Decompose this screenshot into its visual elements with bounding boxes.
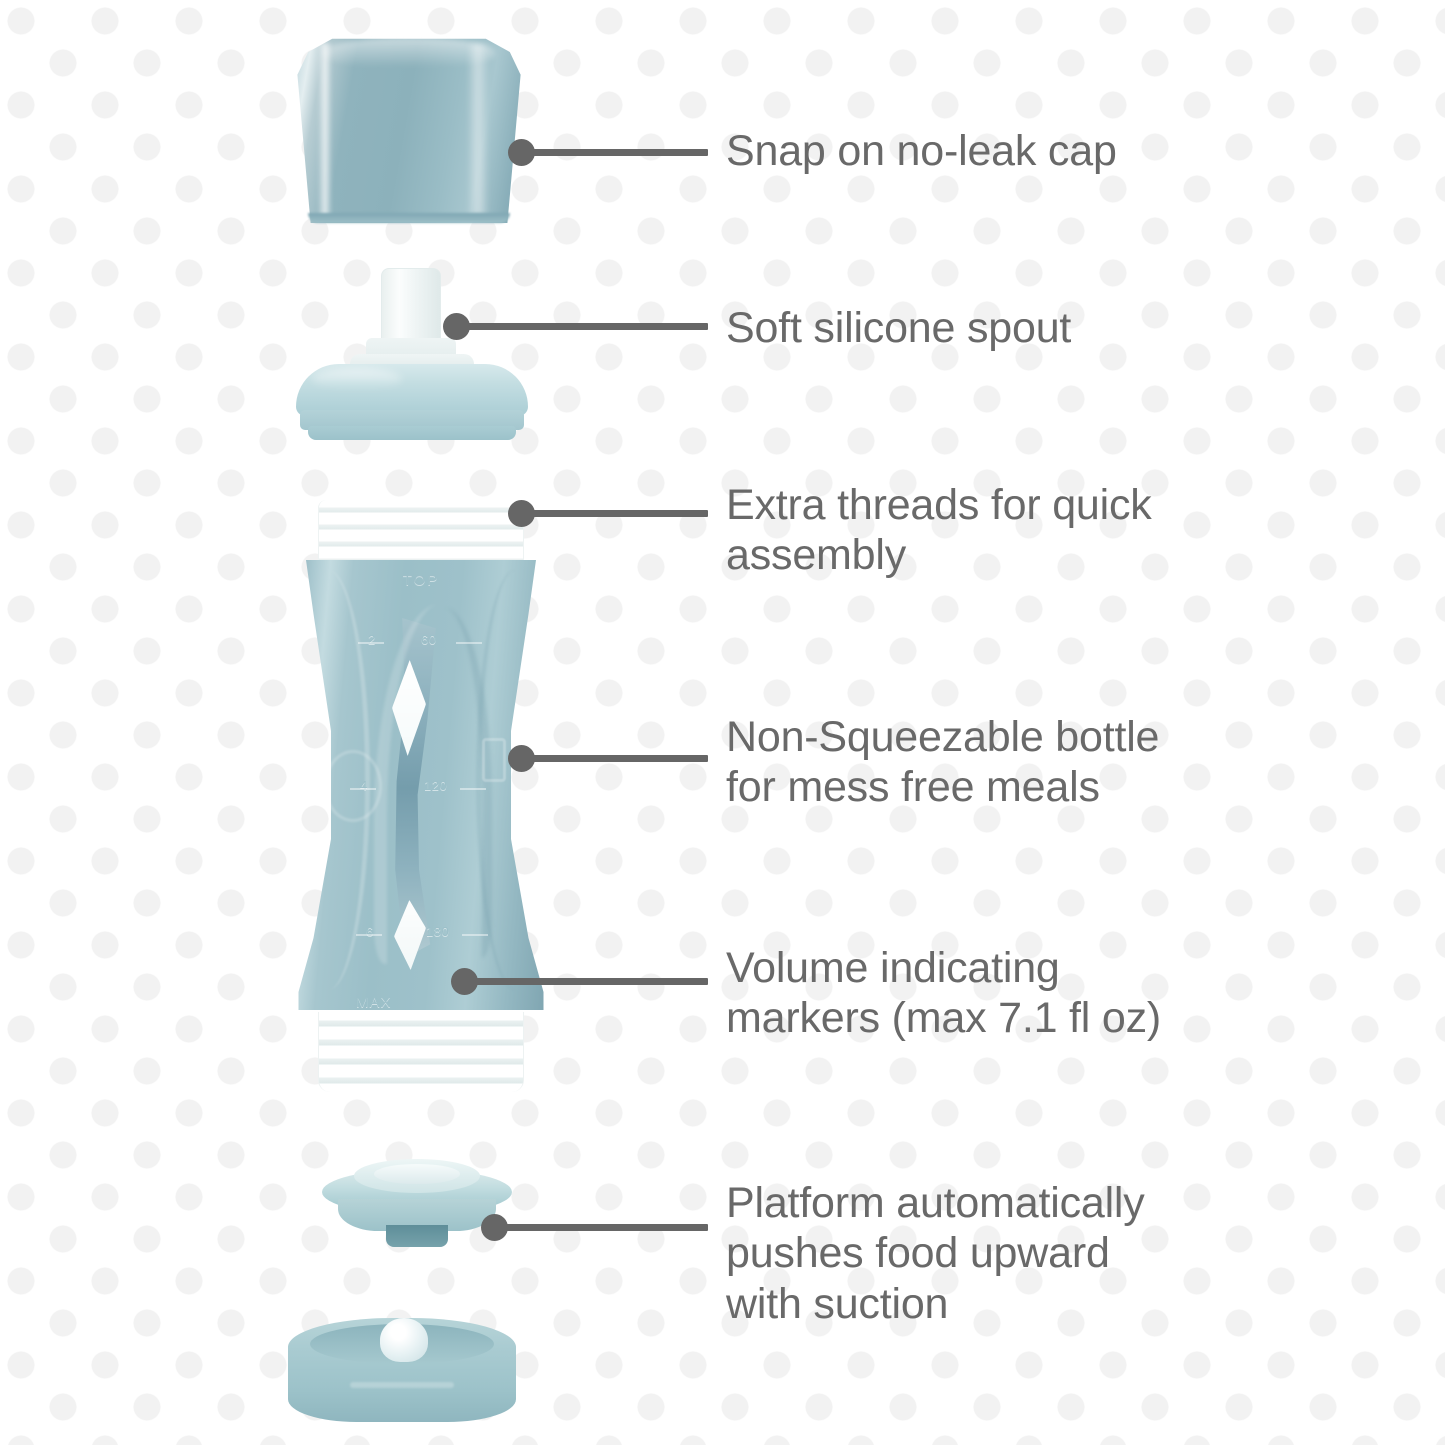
- spout-collar-highlight: [312, 368, 402, 390]
- leader-bar-threads: [526, 510, 708, 517]
- bottle-bottom-threads: [318, 1012, 524, 1092]
- volume-mark-oz-3: 6: [366, 924, 374, 939]
- leader-bar-spout: [461, 323, 708, 330]
- leader-dot-spout: [443, 313, 470, 340]
- leader-dot-threads: [508, 500, 535, 527]
- bottle-top-threads: [318, 500, 524, 570]
- leader-bar-cap: [526, 149, 708, 156]
- volume-tick-2l: [350, 788, 376, 790]
- volume-tick-3r: [462, 934, 488, 936]
- volume-mark-oz-1: 2: [368, 632, 376, 647]
- spout-nozzle: [381, 268, 441, 346]
- bottle-emboss-tickbox: [482, 738, 506, 782]
- infographic-stage: TOP 2 60 4 120 6 180 MAX 7.1 FL OZ 210 m…: [0, 0, 1445, 1445]
- volume-mark-ml-3: 180: [426, 924, 449, 939]
- leader-dot-cap: [508, 139, 535, 166]
- volume-mark-max: MAX: [356, 994, 392, 1011]
- spout-collar-band-lower: [308, 426, 516, 440]
- base-valve-bulb: [380, 1318, 428, 1362]
- volume-mark-ml-2: 120: [424, 778, 447, 793]
- volume-tick-1l: [358, 642, 384, 644]
- callout-text-platform: Platform automatically pushes food upwar…: [726, 1178, 1145, 1329]
- callout-text-bottle: Non-Squeezable bottle for mess free meal…: [726, 712, 1159, 813]
- callout-text-cap: Snap on no-leak cap: [726, 126, 1117, 176]
- volume-mark-ml-1: 60: [421, 632, 436, 647]
- leader-dot-bottle: [508, 745, 535, 772]
- callout-text-volume: Volume indicating markers (max 7.1 fl oz…: [726, 943, 1161, 1044]
- leader-dot-platform: [481, 1214, 508, 1241]
- platform-dome-inner: [374, 1164, 460, 1184]
- leader-bar-volume: [469, 978, 708, 985]
- callout-text-threads: Extra threads for quick assembly: [726, 480, 1152, 581]
- volume-tick-1r: [456, 642, 482, 644]
- product-part-snap-on-cap: [289, 33, 529, 223]
- bottle-top-label: TOP: [296, 572, 546, 589]
- product-part-bottle-body: TOP 2 60 4 120 6 180 MAX 7.1 FL OZ 210 m…: [296, 500, 546, 1090]
- volume-tick-2r: [460, 788, 486, 790]
- volume-mark-oz-2: 4: [360, 778, 368, 793]
- base-emboss-text: [350, 1382, 454, 1388]
- cap-highlight-right: [467, 44, 489, 215]
- cap-bottom-rim: [308, 213, 510, 223]
- leader-dot-volume: [451, 968, 478, 995]
- product-part-silicone-spout: [286, 268, 536, 443]
- platform-stem: [386, 1225, 448, 1247]
- leader-bar-bottle: [526, 755, 708, 762]
- callout-text-spout: Soft silicone spout: [726, 303, 1071, 353]
- product-part-base-ring: [288, 1312, 516, 1437]
- bottle-emboss-badge: [324, 750, 382, 822]
- volume-tick-3l: [356, 934, 382, 936]
- leader-bar-platform: [499, 1224, 708, 1231]
- product-part-suction-platform: [322, 1157, 512, 1262]
- cap-highlight-left: [318, 43, 332, 218]
